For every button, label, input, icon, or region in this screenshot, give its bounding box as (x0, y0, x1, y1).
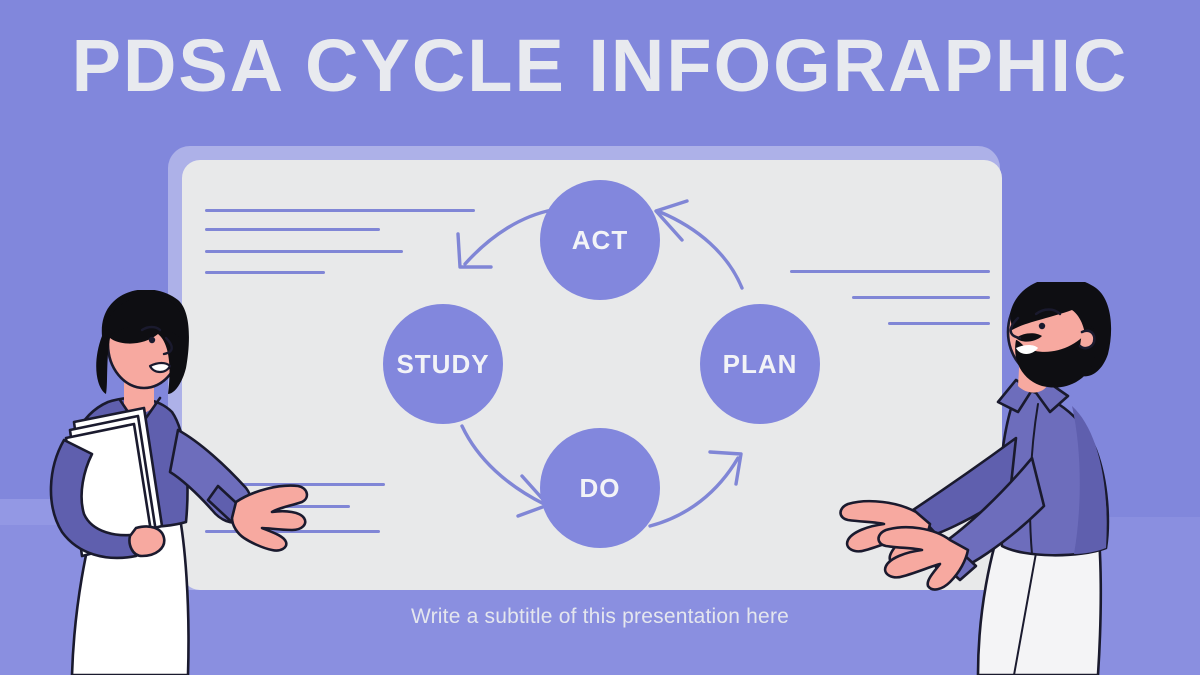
woman-eye (149, 337, 155, 343)
subtitle: Write a subtitle of this presentation he… (0, 605, 1200, 629)
cycle-node-study-label: STUDY (396, 349, 489, 380)
cycle-node-do[interactable]: DO (540, 428, 660, 548)
decor-line-right-1 (790, 270, 990, 273)
cycle-node-do-label: DO (580, 473, 621, 504)
decor-line-top-left-1 (205, 209, 475, 212)
woman-left-hand (130, 526, 165, 556)
slide-root: PDSA CYCLE INFOGRAPHIC ACT (0, 0, 1200, 675)
man-ear (1080, 331, 1094, 348)
page-title: PDSA CYCLE INFOGRAPHIC (0, 22, 1200, 110)
decor-line-top-left-3 (205, 250, 403, 253)
woman-mouth (150, 363, 170, 372)
man-eye (1039, 323, 1045, 329)
cycle-node-act-label: ACT (572, 225, 628, 256)
cycle-node-act[interactable]: ACT (540, 180, 660, 300)
cycle-node-plan-label: PLAN (723, 349, 798, 380)
decor-line-top-left-2 (205, 228, 380, 231)
decor-line-top-left-4 (205, 271, 325, 274)
cycle-node-study[interactable]: STUDY (383, 304, 503, 424)
cycle-node-plan[interactable]: PLAN (700, 304, 820, 424)
